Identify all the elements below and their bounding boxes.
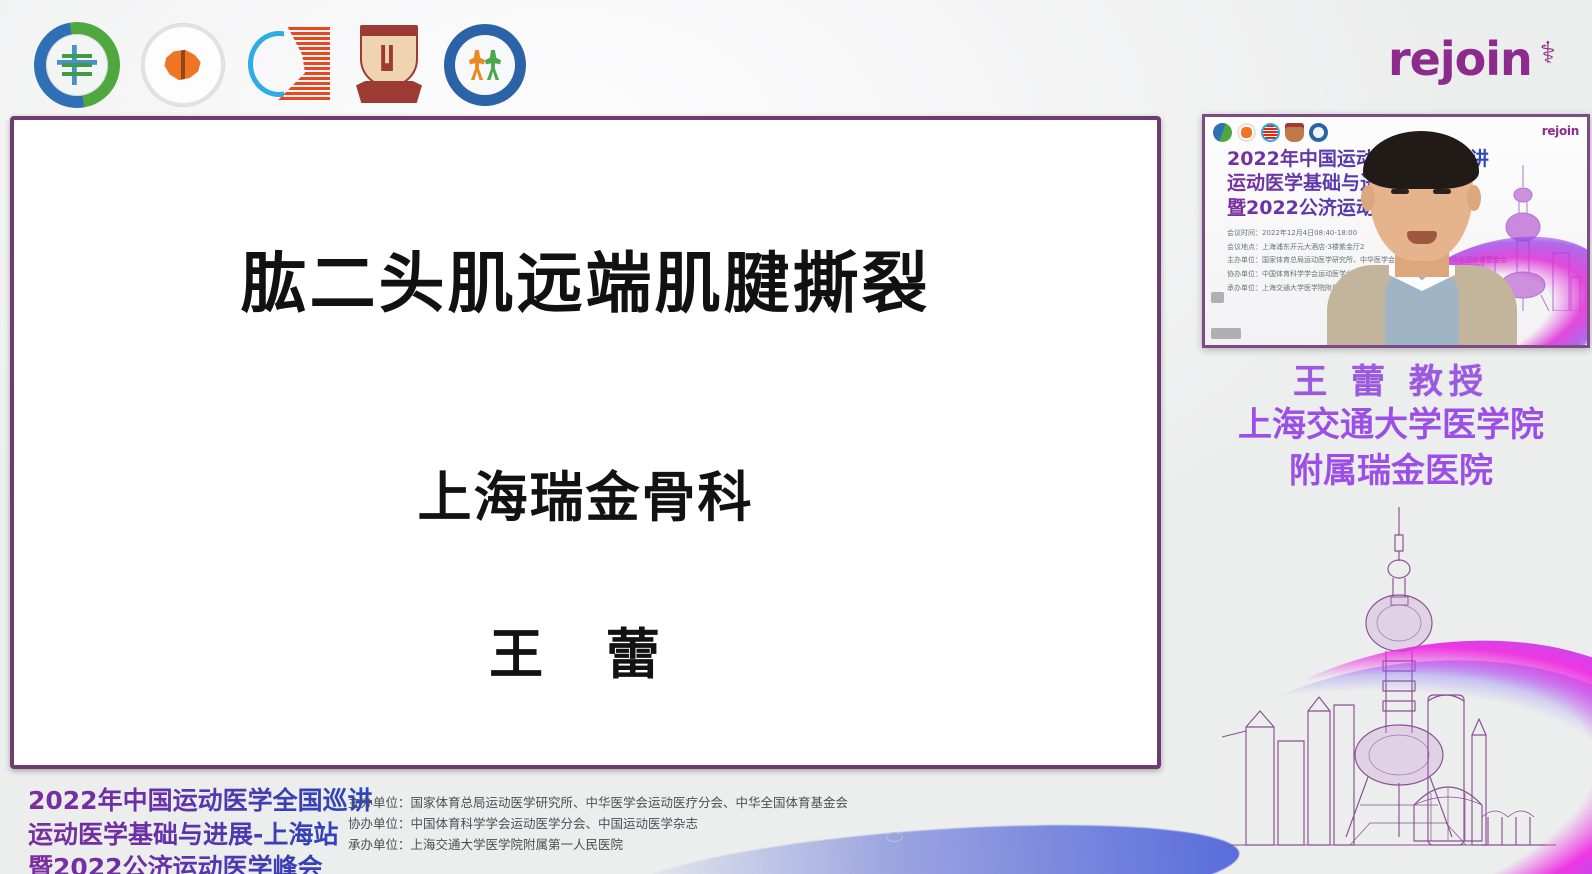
video-logo-institute-icon xyxy=(1213,123,1232,142)
banner-glyph xyxy=(356,81,422,103)
video-logo-crest-icon xyxy=(1285,123,1304,142)
person-eye-left xyxy=(1391,189,1409,194)
slide-content: 肱二头肌远端肌腱撕裂 上海瑞金骨科 王 蕾 xyxy=(14,120,1157,765)
video-bg-logo-row xyxy=(1213,123,1328,142)
video-control-badge-bottom[interactable] xyxy=(1211,328,1241,339)
video-logo-cma-icon xyxy=(1237,123,1256,142)
video-control-badge-top[interactable] xyxy=(1211,292,1224,303)
footer-ring-decoration xyxy=(886,832,903,842)
shanghai-first-peoples-hospital-crest xyxy=(356,23,422,107)
video-bg-rejoin-wordmark: rejoin xyxy=(1542,124,1579,138)
person-mouth xyxy=(1407,231,1437,244)
speaker-affiliation-line1: 上海交通大学医学院 xyxy=(1190,403,1592,449)
speaker-video-person xyxy=(1333,131,1511,348)
video-logo-swirl-icon xyxy=(1261,123,1280,142)
right-side-panel: rejoin 2022年中国运动医学全国巡讲 运动医学基础与进展-上海站 暨20… xyxy=(1190,0,1592,874)
shield-top-glyph xyxy=(360,25,418,36)
slide-presenter-name: 王 蕾 xyxy=(489,610,682,689)
sponsor-logo-row xyxy=(34,22,526,108)
slide-subtitle-department: 上海瑞金骨科 xyxy=(418,453,754,532)
sports-swirl-logo xyxy=(246,25,334,105)
speaker-video-tile[interactable]: rejoin 2022年中国运动医学全国巡讲 运动医学基础与进展-上海站 暨20… xyxy=(1202,114,1590,348)
shanghai-oriental-pearl-tower-skyline xyxy=(1210,505,1592,874)
china-map-glyph xyxy=(162,47,204,83)
chinese-medical-association-logo xyxy=(142,24,224,106)
person-ear-right xyxy=(1467,185,1481,211)
athlete-figure-orange-icon xyxy=(469,50,485,80)
person-eye-right xyxy=(1433,189,1451,194)
organizer-credits: 主办单位：国家体育总局运动医学研究所、中华医学会运动医疗分会、中华全国体育基金会… xyxy=(348,792,848,855)
presentation-slide[interactable]: 肱二头肌远端肌腱撕裂 上海瑞金骨科 王 蕾 xyxy=(10,116,1161,769)
speaker-affiliation-line2: 附属瑞金医院 xyxy=(1190,449,1592,495)
person-shirt xyxy=(1385,267,1459,348)
video-logo-society-icon xyxy=(1309,123,1328,142)
athlete-figure-green-icon xyxy=(485,50,501,80)
speaker-caption: 王 蕾 教授 上海交通大学医学院 附属瑞金医院 xyxy=(1190,362,1592,495)
bars-glyph xyxy=(62,52,92,78)
speaker-name: 王 蕾 教授 xyxy=(1190,362,1592,403)
sports-science-society-logo xyxy=(444,24,526,106)
slide-title: 肱二头肌远端肌腱撕裂 xyxy=(241,248,931,321)
conference-title: 2022年中国运动医学全国巡讲 运动医学基础与进展-上海站 暨2022公济运动医… xyxy=(28,784,373,874)
person-hair xyxy=(1363,131,1479,189)
person-ear-left xyxy=(1361,185,1375,211)
footer-bar: 2022年中国运动医学全国巡讲 运动医学基础与进展-上海站 暨2022公济运动医… xyxy=(0,774,1180,874)
china-institute-sports-medicine-logo xyxy=(34,22,120,108)
